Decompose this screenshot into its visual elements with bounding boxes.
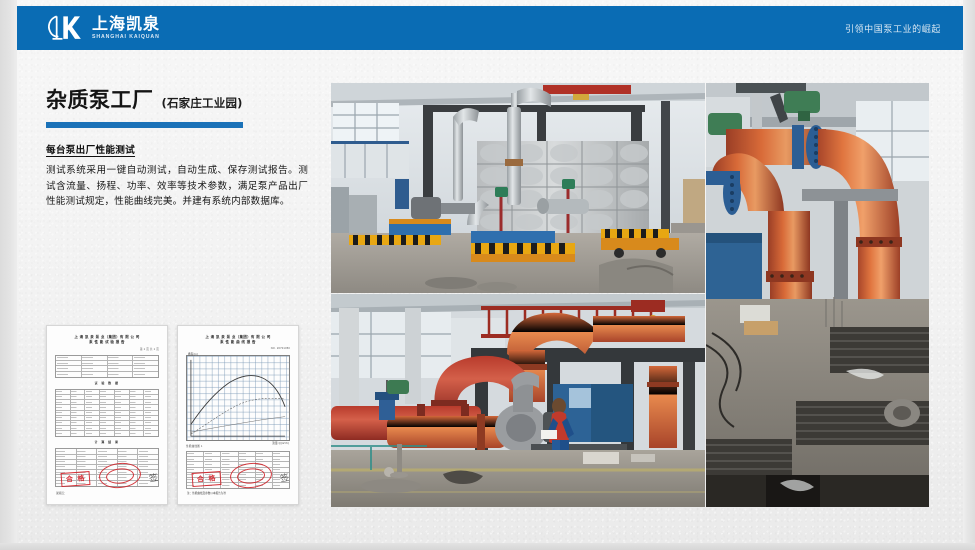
section-lead-heading: 每台泵出厂性能测试 [46, 142, 308, 156]
page-title-sub: (石家庄工业园) [162, 95, 243, 111]
text-column: 杂质泵工厂 (石家庄工业园) 每台泵出厂性能测试 测试系统采用一键自动测试，自动… [46, 84, 308, 210]
brand-wordmark: 上海凯泉 SHANGHAI KAIQUAN [92, 16, 160, 40]
page-gutter-right [963, 0, 975, 550]
qualified-stamp: 合 格 [192, 471, 222, 487]
photo-a-artwork [331, 83, 705, 293]
presentation-slide: 上海凯泉 SHANGHAI KAIQUAN 引领中国泵工业的崛起 杂质泵工厂 (… [0, 0, 975, 550]
document-thumbnail-group: 上 海 凯 泉 泵 业（集团）有 限 公 司 泵 性 能 试 验 报 告 第 1… [46, 325, 299, 505]
photo-b-artwork [331, 294, 705, 507]
performance-curve-chart: 扬程(m) 流量 Q(m³/h) [186, 355, 290, 441]
page-edge-bottom [0, 543, 975, 550]
curve-doc-meta: NO. 20701050 [186, 347, 290, 350]
photo-c-artwork [706, 83, 929, 507]
performance-curve-plot [187, 356, 289, 440]
doc-title-line2: 泵 性 能 试 验 报 告 [55, 340, 159, 345]
header-tagline: 引领中国泵工业的崛起 [845, 22, 941, 35]
brand-name-en: SHANGHAI KAIQUAN [92, 35, 160, 40]
page-title-main: 杂质泵工厂 [46, 84, 154, 114]
photo-technician-inspecting-pump[interactable] [331, 294, 705, 507]
curve-doc-footnote: 注：性能曲线及参数以本报告为准 [187, 491, 226, 495]
chart-y-axis-label: 扬程(m) [188, 352, 198, 356]
qualified-stamp: 合 格 [61, 471, 91, 487]
title-accent-rule [46, 122, 243, 128]
doc-section-label-data: 试 验 数 据 [55, 381, 159, 385]
doc-footnote: 试验员： [56, 491, 66, 495]
page-title: 杂质泵工厂 (石家庄工业园) [46, 84, 308, 114]
doc-header-table [55, 355, 159, 378]
photo-collage [331, 83, 929, 507]
kaiquan-k-mark-icon [45, 13, 85, 43]
curve-doc-title-line2: 泵 性 能 曲 线 报 告 [186, 340, 290, 345]
photo-pump-test-bed-tanks[interactable] [331, 83, 705, 293]
photo-orange-pipe-elbows[interactable] [706, 83, 929, 507]
doc-measurement-table [55, 389, 159, 438]
chart-x-axis-label: 流量 Q(m³/h) [272, 441, 289, 445]
brand-name-cn: 上海凯泉 [92, 16, 160, 32]
brand-logo[interactable]: 上海凯泉 SHANGHAI KAIQUAN [45, 13, 160, 43]
doc-thumbnail-test-report[interactable]: 上 海 凯 泉 泵 业（集团）有 限 公 司 泵 性 能 试 验 报 告 第 1… [46, 325, 168, 505]
section-body-text: 测试系统采用一键自动测试，自动生成、保存测试报告。测试含流量、扬程、功率、效率等… [46, 163, 308, 210]
slide-header-bar: 上海凯泉 SHANGHAI KAIQUAN 引领中国泵工业的崛起 [17, 6, 963, 50]
page-gutter-left [0, 0, 17, 550]
doc-section-label-result: 计 算 结 果 [55, 440, 159, 444]
doc-meta: 第 1 页 共 1 页 [55, 347, 159, 351]
doc-thumbnail-performance-curve[interactable]: 上 海 凯 泉 泵 业（集团）有 限 公 司 泵 性 能 曲 线 报 告 NO.… [177, 325, 299, 505]
